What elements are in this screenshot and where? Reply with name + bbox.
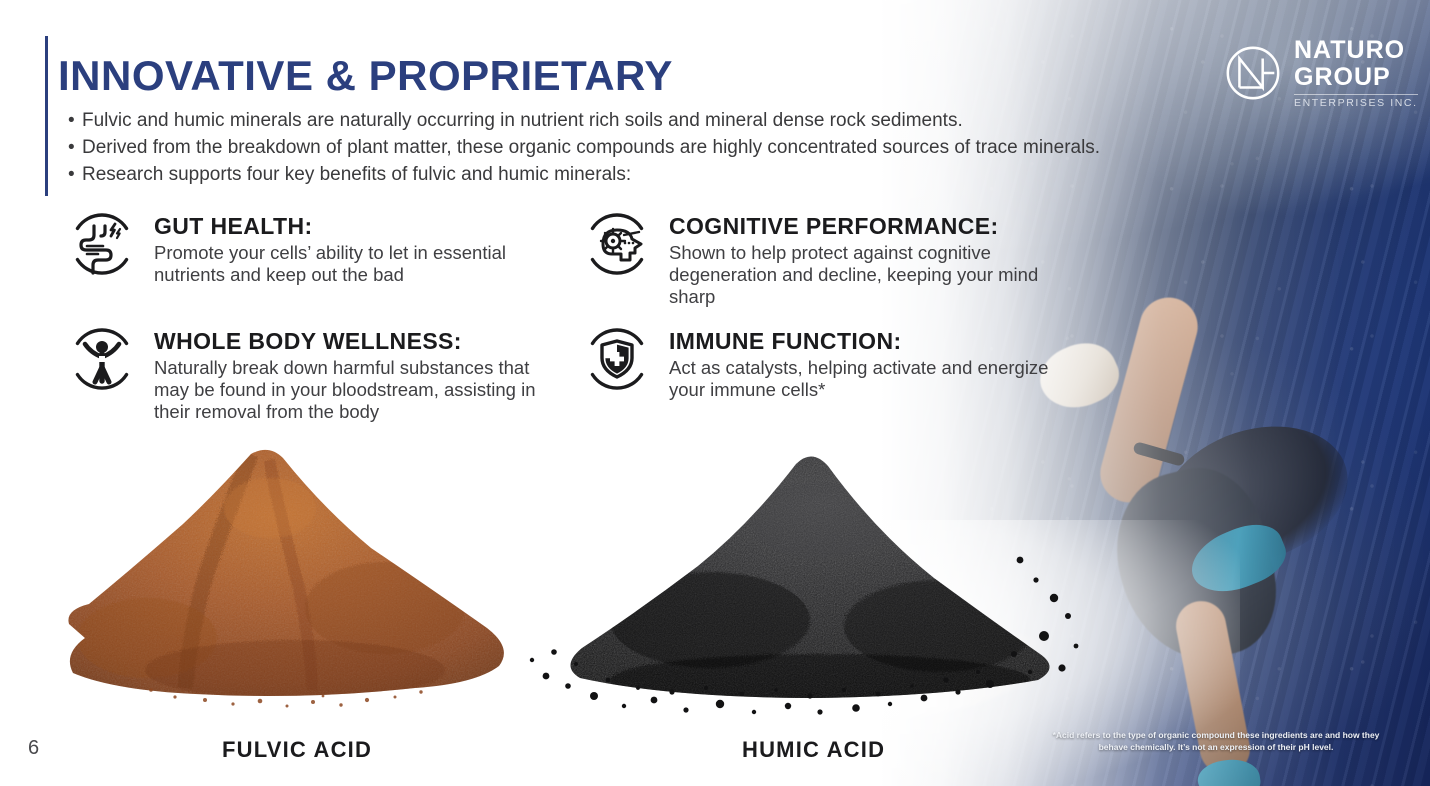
bullet-text: Fulvic and humic minerals are naturally … [82, 108, 1148, 134]
naturo-ng-monogram-icon [1222, 42, 1284, 104]
person-arms-raised-icon [68, 325, 136, 393]
benefit-body: Promote your cells’ ability to let in es… [154, 242, 548, 286]
fulvic-acid-label: FULVIC ACID [222, 737, 372, 763]
benefit-cognitive-performance: COGNITIVE PERFORMANCE: Shown to help pro… [583, 210, 1053, 308]
bullet-marker-icon: • [68, 135, 82, 161]
brain-gear-head-icon [583, 210, 651, 278]
logo-line-1: NATURO [1294, 38, 1418, 63]
page-number: 6 [28, 737, 39, 760]
logo-line-2: GROUP [1294, 65, 1418, 90]
benefit-text: COGNITIVE PERFORMANCE: Shown to help pro… [669, 210, 1053, 308]
humic-acid-label: HUMIC ACID [742, 737, 885, 763]
logo-wordmark: NATURO GROUP ENTERPRISES INC. [1294, 38, 1418, 109]
page-title: INNOVATIVE & PROPRIETARY [58, 52, 673, 100]
benefit-heading: IMMUNE FUNCTION: [669, 328, 1053, 355]
list-item: • Derived from the breakdown of plant ma… [68, 135, 1148, 161]
benefit-body: Naturally break down harmful substances … [154, 357, 548, 423]
benefit-text: IMMUNE FUNCTION: Act as catalysts, helpi… [669, 325, 1053, 401]
intro-bullet-list: • Fulvic and humic minerals are naturall… [68, 108, 1148, 189]
footnote-disclaimer: *Acid refers to the type of organic comp… [1040, 730, 1392, 753]
benefit-body: Shown to help protect against cognitive … [669, 242, 1053, 308]
benefit-whole-body-wellness: WHOLE BODY WELLNESS: Naturally break dow… [68, 325, 548, 423]
benefit-text: GUT HEALTH: Promote your cells’ ability … [154, 210, 548, 286]
list-item: • Fulvic and humic minerals are naturall… [68, 108, 1148, 134]
benefit-heading: GUT HEALTH: [154, 213, 548, 240]
benefit-heading: COGNITIVE PERFORMANCE: [669, 213, 1053, 240]
humic-acid-powder [520, 440, 1100, 730]
bullet-text: Derived from the breakdown of plant matt… [82, 135, 1148, 161]
benefit-heading: WHOLE BODY WELLNESS: [154, 328, 548, 355]
benefit-body: Act as catalysts, helping activate and e… [669, 357, 1053, 401]
bullet-marker-icon: • [68, 162, 82, 188]
title-accent-bar [45, 36, 48, 196]
benefit-immune-function: IMMUNE FUNCTION: Act as catalysts, helpi… [583, 325, 1053, 401]
bullet-marker-icon: • [68, 108, 82, 134]
slide: NATURO GROUP ENTERPRISES INC. INNOVATIVE… [0, 0, 1430, 786]
benefit-text: WHOLE BODY WELLNESS: Naturally break dow… [154, 325, 548, 423]
list-item: • Research supports four key benefits of… [68, 162, 1148, 188]
fulvic-acid-powder [55, 438, 525, 713]
shield-cross-icon [583, 325, 651, 393]
gut-intestine-icon [68, 210, 136, 278]
naturo-group-logo: NATURO GROUP ENTERPRISES INC. [1222, 38, 1418, 109]
bullet-text: Research supports four key benefits of f… [82, 162, 1148, 188]
logo-line-3: ENTERPRISES INC. [1294, 94, 1418, 109]
benefit-gut-health: GUT HEALTH: Promote your cells’ ability … [68, 210, 548, 286]
